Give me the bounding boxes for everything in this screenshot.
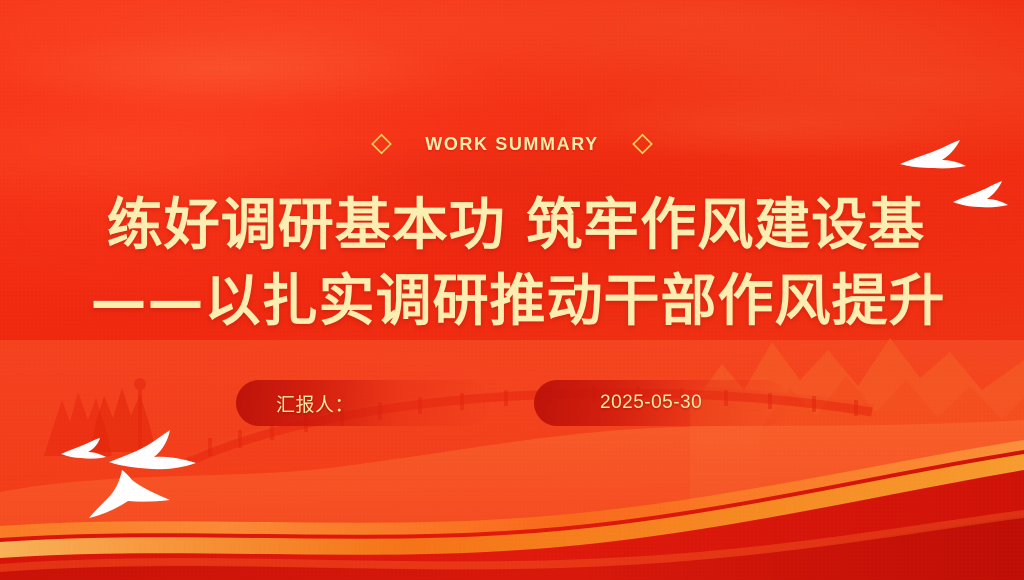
presenter-label: 汇报人：	[236, 390, 354, 417]
slide-title: 练好调研基本功 筑牢作风建设基 ——以扎实调研推动干部作风提升	[0, 188, 1024, 340]
meta-row: 汇报人： 2025-05-30	[0, 380, 1024, 426]
title-line-subtitle: ——以扎实调研推动干部作风提升	[6, 264, 1024, 340]
date-pill: 2025-05-30	[534, 380, 788, 426]
left-ornament-icon	[199, 130, 399, 158]
eyebrow-row: WORK SUMMARY	[0, 124, 1024, 164]
title-line-primary: 练好调研基本功 筑牢作风建设基	[4, 188, 1024, 264]
presenter-pill: 汇报人：	[236, 380, 490, 426]
right-ornament-icon	[625, 130, 825, 158]
presentation-cover-slide: WORK SUMMARY 练好调研基本功 筑牢作风建设基 ——以扎实调研推动干部…	[0, 0, 1024, 580]
date-value: 2025-05-30	[534, 392, 702, 414]
eyebrow-title: WORK SUMMARY	[399, 134, 625, 155]
